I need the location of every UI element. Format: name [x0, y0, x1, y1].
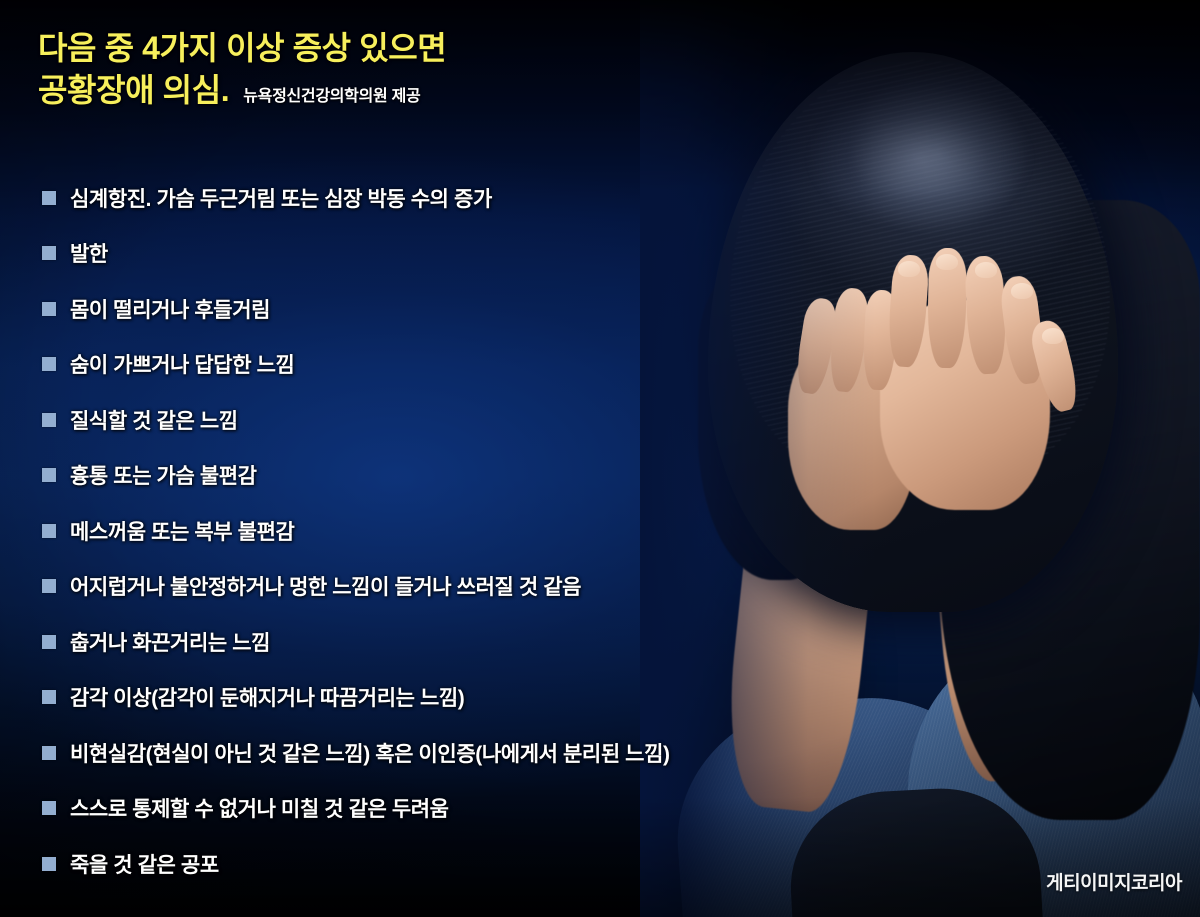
title-line-2: 공황장애 의심. [38, 70, 229, 112]
symptom-label: 어지럽거나 불안정하거나 멍한 느낌이 들거나 쓰러질 것 같음 [70, 571, 581, 601]
bullet-square-icon [42, 524, 56, 538]
symptom-list: 심계항진. 가슴 두근거림 또는 심장 박동 수의 증가 발한 몸이 떨리거나 … [42, 170, 670, 892]
content-layer: 다음 중 4가지 이상 증상 있으면 공황장애 의심. 뉴욕정신건강의학의원 제… [0, 0, 1200, 917]
list-item: 춥거나 화끈거리는 느낌 [42, 614, 670, 670]
symptom-label: 숨이 가쁘거나 답답한 느낌 [70, 349, 294, 379]
symptom-label: 죽을 것 같은 공포 [70, 849, 219, 879]
bullet-square-icon [42, 746, 56, 760]
list-item: 몸이 떨리거나 후들거림 [42, 281, 670, 337]
list-item: 메스꺼움 또는 복부 불편감 [42, 503, 670, 559]
title-line-1: 다음 중 4가지 이상 증상 있으면 [38, 28, 446, 70]
title-block: 다음 중 4가지 이상 증상 있으면 공황장애 의심. 뉴욕정신건강의학의원 제… [38, 28, 446, 111]
list-item: 흉통 또는 가슴 불편감 [42, 448, 670, 504]
list-item: 비현실감(현실이 아닌 것 같은 느낌) 혹은 이인증(나에게서 분리된 느낌) [42, 725, 670, 781]
bullet-square-icon [42, 191, 56, 205]
symptom-label: 메스꺼움 또는 복부 불편감 [70, 516, 294, 546]
bullet-square-icon [42, 246, 56, 260]
list-item: 죽을 것 같은 공포 [42, 836, 670, 892]
list-item: 발한 [42, 226, 670, 282]
watermark-credit: 게티이미지코리아 [1046, 868, 1182, 895]
list-item: 심계항진. 가슴 두근거림 또는 심장 박동 수의 증가 [42, 170, 670, 226]
bullet-square-icon [42, 857, 56, 871]
bullet-square-icon [42, 413, 56, 427]
list-item: 질식할 것 같은 느낌 [42, 392, 670, 448]
symptom-label: 춥거나 화끈거리는 느낌 [70, 627, 270, 657]
infographic-poster: 다음 중 4가지 이상 증상 있으면 공황장애 의심. 뉴욕정신건강의학의원 제… [0, 0, 1200, 917]
symptom-label: 심계항진. 가슴 두근거림 또는 심장 박동 수의 증가 [70, 183, 492, 213]
symptom-label: 비현실감(현실이 아닌 것 같은 느낌) 혹은 이인증(나에게서 분리된 느낌) [70, 738, 670, 768]
list-item: 어지럽거나 불안정하거나 멍한 느낌이 들거나 쓰러질 것 같음 [42, 559, 670, 615]
list-item: 감각 이상(감각이 둔해지거나 따끔거리는 느낌) [42, 670, 670, 726]
bullet-square-icon [42, 635, 56, 649]
symptom-label: 감각 이상(감각이 둔해지거나 따끔거리는 느낌) [70, 682, 464, 712]
symptom-label: 스스로 통제할 수 없거나 미칠 것 같은 두려움 [70, 793, 449, 823]
bullet-square-icon [42, 579, 56, 593]
list-item: 숨이 가쁘거나 답답한 느낌 [42, 337, 670, 393]
list-item: 스스로 통제할 수 없거나 미칠 것 같은 두려움 [42, 781, 670, 837]
bullet-square-icon [42, 302, 56, 316]
bullet-square-icon [42, 690, 56, 704]
symptom-label: 흉통 또는 가슴 불편감 [70, 460, 257, 490]
title-row-2: 공황장애 의심. 뉴욕정신건강의학의원 제공 [38, 70, 446, 112]
bullet-square-icon [42, 801, 56, 815]
symptom-label: 질식할 것 같은 느낌 [70, 405, 238, 435]
bullet-square-icon [42, 468, 56, 482]
symptom-label: 몸이 떨리거나 후들거림 [70, 294, 270, 324]
bullet-square-icon [42, 357, 56, 371]
source-credit: 뉴욕정신건강의학의원 제공 [243, 82, 420, 106]
symptom-label: 발한 [70, 238, 108, 268]
